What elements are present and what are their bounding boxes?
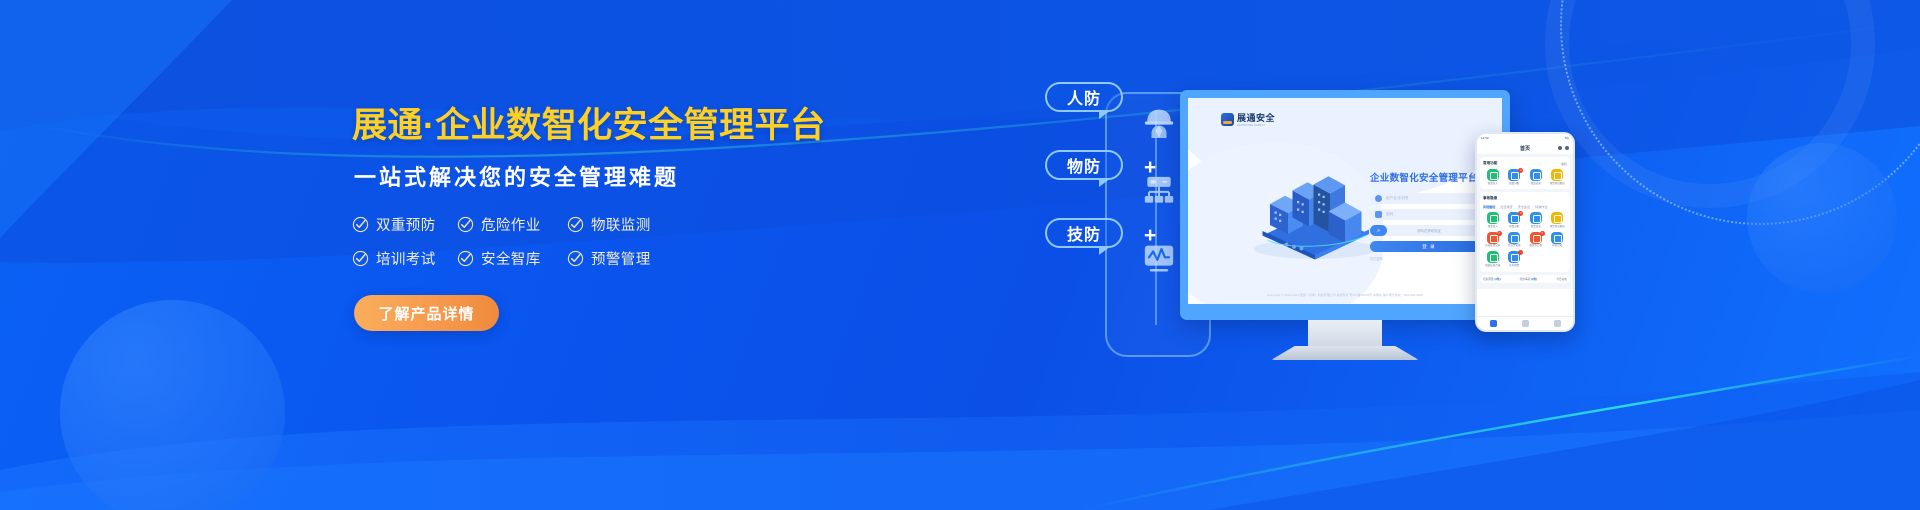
check-circle-icon: [567, 216, 584, 233]
login-submit-button[interactable]: 登 录: [1370, 241, 1488, 252]
stat-value: (3条): [1495, 278, 1501, 281]
app-icon: [1508, 232, 1520, 244]
feature-list: 双重预防 危险作业 物联监测: [352, 214, 822, 269]
stat-value: (2条): [1531, 278, 1537, 281]
feature-label: 危险作业: [481, 214, 541, 235]
check-circle-icon: [457, 250, 474, 267]
feature-label: 物联监测: [591, 214, 651, 235]
feature-item: 培训考试: [352, 248, 457, 269]
stat-label: 今日动态: [1556, 278, 1567, 281]
app-label: 隐患录入: [1488, 183, 1498, 186]
app-tile[interactable]: 制度标准合规: [1483, 251, 1503, 267]
check-circle-icon: [352, 250, 369, 267]
network-rack-icon: [1138, 171, 1180, 211]
app-icon: [1551, 232, 1563, 244]
phone-content: 常用功能 编辑 隐患录入 3 隐患分配: [1477, 154, 1573, 289]
app-tile[interactable]: 3 隐患分配: [1505, 169, 1525, 185]
pillar-tag-wufang[interactable]: 物防: [1045, 150, 1123, 180]
phone-status-bar: 12:50 5G: [1477, 134, 1573, 142]
forgot-password-link[interactable]: 忘记密码: [1370, 256, 1383, 261]
mobile-phone: 12:50 5G 首页 常用功能 编辑: [1475, 132, 1575, 332]
city-illustration: [1240, 170, 1390, 262]
app-tile[interactable]: 2 应急处置记录: [1483, 232, 1503, 248]
feature-label: 双重预防: [376, 214, 436, 235]
check-circle-icon: [567, 250, 584, 267]
logo-name-cn: 展通安全: [1237, 111, 1275, 124]
app-label: 任务预警: [1509, 265, 1519, 268]
pillar-tag-jifang[interactable]: 技防: [1045, 218, 1123, 248]
app-tile[interactable]: 作业票管理: [1505, 232, 1525, 248]
username-field[interactable]: 用户名/手机号: [1370, 193, 1488, 204]
password-field[interactable]: 密码: [1370, 209, 1488, 220]
device-showcase: 人防 物防 技防 + +: [1040, 70, 1660, 470]
app-icon: [1551, 169, 1563, 181]
monitor-screen: 展通安全 ZHANTONG SAFETY: [1188, 98, 1502, 304]
favorites-title: 常用功能: [1483, 161, 1497, 166]
logo-mark-icon: [1221, 113, 1234, 126]
favorites-card: 常用功能 编辑 隐患录入 3 隐患分配: [1480, 157, 1570, 189]
status-time: 12:50: [1481, 136, 1489, 140]
feature-label: 预警管理: [591, 248, 651, 269]
password-placeholder: 密码: [1386, 212, 1393, 217]
app-icon: [1487, 169, 1499, 181]
page-title: 展通·企业数智化安全管理平台: [352, 105, 822, 146]
profile-icon[interactable]: [1554, 320, 1561, 327]
business-tabs: 风险管控 隐患排查 安全会议 特殊作业: [1483, 204, 1567, 209]
gear-icon[interactable]: [1565, 146, 1569, 150]
app-tile[interactable]: 3 隐患分配: [1505, 212, 1525, 228]
scan-icon[interactable]: [1558, 146, 1562, 150]
feature-item: 物联监测: [567, 214, 677, 235]
notification-badge: 5: [1540, 231, 1545, 236]
phone-nav-bar: 首页: [1477, 142, 1573, 154]
promo-banner: 展通·企业数智化安全管理平台 一站式解决您的安全管理难题 双重预防 危险作业: [0, 0, 1920, 510]
app-label: 预警消息推送: [1550, 183, 1565, 186]
feature-label: 安全智库: [481, 248, 541, 269]
feature-item: 预警管理: [567, 248, 677, 269]
app-label: 隐患分配: [1509, 226, 1519, 229]
page-subtitle: 一站式解决您的安全管理难题: [354, 160, 822, 192]
tab-item[interactable]: 隐患排查: [1500, 204, 1512, 209]
app-icon: [1487, 212, 1499, 224]
notification-badge: 3: [1518, 211, 1523, 216]
app-tile[interactable]: 排查台账: [1548, 232, 1568, 248]
login-page: 展通安全 ZHANTONG SAFETY: [1188, 98, 1502, 304]
decor-sphere-left: [60, 300, 285, 510]
check-circle-icon: [352, 216, 369, 233]
phone-bottom-nav: [1477, 316, 1573, 330]
captcha-hint: 请向右滑动验证: [1417, 228, 1441, 233]
stat-item[interactable]: 待办事项 (2条): [1520, 277, 1537, 281]
app-tile[interactable]: 隐患录入: [1483, 212, 1503, 228]
monitoring-wave-icon: [1138, 239, 1180, 279]
business-grid: 隐患录入 3 隐患分配 隐患记录 预警消息: [1483, 212, 1567, 267]
notification-badge: 3: [1518, 168, 1523, 173]
status-signal: 5G: [1565, 136, 1569, 140]
app-tile[interactable]: 5 整改不合格: [1526, 232, 1546, 248]
stat-label: 待办事项: [1520, 278, 1531, 281]
app-label: 隐患分配: [1509, 183, 1519, 186]
app-tile[interactable]: 预警消息推送: [1548, 169, 1568, 185]
app-tile[interactable]: 预警消息推送: [1548, 212, 1568, 228]
worker-helmet-icon: [1138, 103, 1180, 143]
login-title: 企业数智化安全管理平台: [1370, 170, 1488, 184]
favorites-grid: 隐患录入 3 隐患分配 隐患记录 预警消息: [1483, 169, 1567, 185]
captcha-slider[interactable]: » 请向右滑动验证: [1370, 225, 1488, 236]
business-card: 事故隐患 风险管控 隐患排查 安全会议 特殊作业 隐患录入: [1480, 192, 1570, 271]
app-tile[interactable]: 隐患录入: [1483, 169, 1503, 185]
notification-badge: -: [1518, 250, 1523, 255]
tab-item[interactable]: 风险管控: [1483, 204, 1495, 209]
app-icon: [1530, 212, 1542, 224]
app-icon: [1551, 212, 1563, 224]
feature-item: 安全智库: [457, 248, 567, 269]
app-label: 隐患记录: [1531, 226, 1541, 229]
message-icon[interactable]: [1522, 320, 1529, 327]
banner-copy: 展通·企业数智化安全管理平台 一站式解决您的安全管理难题 双重预防 危险作业: [352, 105, 822, 331]
stat-label: 培训预警: [1483, 278, 1494, 281]
captcha-slider-knob[interactable]: »: [1370, 225, 1387, 236]
notification-badge: 2: [1497, 231, 1502, 236]
feature-label: 培训考试: [376, 248, 436, 269]
check-circle-icon: [457, 216, 474, 233]
product-logo: 展通安全 ZHANTONG SAFETY: [1221, 111, 1275, 127]
app-label: 应急处置记录: [1485, 245, 1500, 248]
business-title: 事故隐患: [1483, 196, 1497, 201]
monitor-neck: [1308, 320, 1382, 348]
feature-item: 危险作业: [457, 214, 567, 235]
stat-item[interactable]: 培训预警 (3条): [1483, 277, 1500, 281]
app-label: 预警消息推送: [1550, 226, 1565, 229]
tab-item[interactable]: 特殊作业: [1535, 204, 1547, 209]
desktop-monitor: 展通安全 ZHANTONG SAFETY: [1180, 90, 1510, 320]
user-icon: [1375, 195, 1382, 202]
app-tile[interactable]: 隐患记录: [1526, 169, 1546, 185]
decor-sphere-right: [1747, 143, 1897, 293]
lock-icon: [1375, 211, 1382, 218]
app-icon: [1487, 251, 1499, 263]
phone-stats-row: 培训预警 (3条) 待办事项 (2条) 今日动态: [1480, 275, 1570, 283]
app-label: 隐患记录: [1531, 183, 1541, 186]
username-placeholder: 用户名/手机号: [1386, 196, 1409, 201]
app-tile[interactable]: - 任务预警: [1505, 251, 1525, 267]
login-form: 企业数智化安全管理平台 用户名/手机号 密码 » 请向右滑动验证: [1370, 170, 1488, 261]
app-label: 作业票管理: [1508, 245, 1521, 248]
app-label: 隐患录入: [1488, 226, 1498, 229]
app-label: 整改不合格: [1529, 245, 1542, 248]
favorites-edit-link[interactable]: 编辑: [1561, 161, 1567, 166]
monitor-base: [1271, 346, 1419, 360]
tab-item[interactable]: 安全会议: [1518, 204, 1530, 209]
pillar-tag-renfang[interactable]: 人防: [1045, 82, 1123, 112]
phone-nav-title: 首页: [1520, 145, 1530, 152]
feature-item: 双重预防: [352, 214, 457, 235]
learn-more-button[interactable]: 了解产品详情: [354, 295, 499, 331]
app-label: 制度标准合规: [1485, 265, 1500, 268]
app-tile[interactable]: 隐患记录: [1526, 212, 1546, 228]
copyright-text: Copyright © 2019-2024 展通（深圳）科技有限公司 版权所有 …: [1188, 293, 1502, 297]
app-label: 排查台账: [1552, 245, 1562, 248]
logo-name-en: ZHANTONG SAFETY: [1237, 124, 1275, 127]
stat-item[interactable]: 今日动态: [1556, 277, 1567, 281]
app-icon: [1530, 169, 1542, 181]
home-icon[interactable]: [1490, 320, 1497, 327]
